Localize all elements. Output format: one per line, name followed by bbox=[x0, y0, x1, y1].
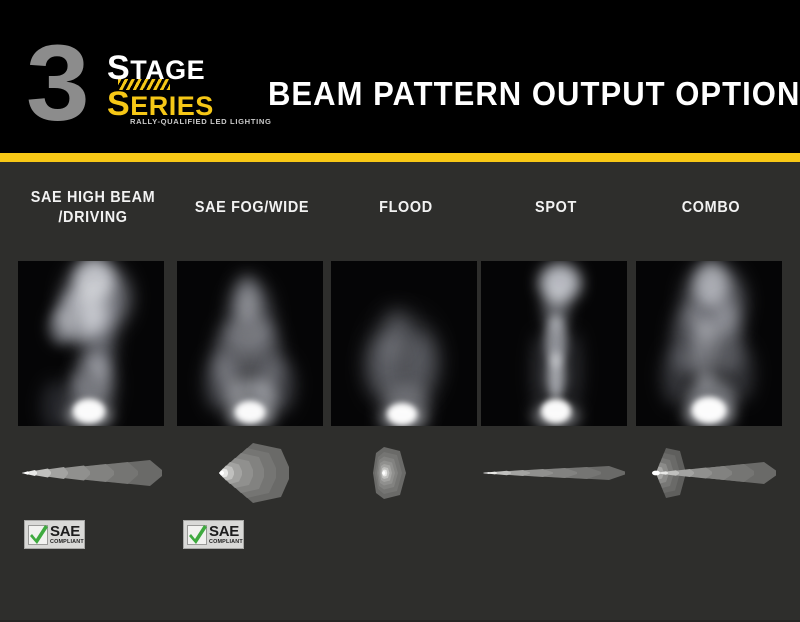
beam-photo-combo bbox=[636, 261, 782, 426]
column-label-line1: COMBO bbox=[682, 199, 741, 216]
column-label-flood: FLOOD bbox=[336, 198, 476, 218]
badge-title: SAE bbox=[50, 524, 84, 539]
beam-diagram-flood bbox=[329, 442, 484, 504]
column-label-sae-high-beam-driving: SAE HIGH BEAM /DRIVING bbox=[23, 188, 163, 228]
logo-word-series: SERIES bbox=[107, 87, 247, 121]
column-label-sae-fog-wide: SAE FOG/WIDE bbox=[182, 198, 322, 218]
column-label-line1: SAE FOG/WIDE bbox=[195, 199, 309, 216]
beam-diagram-combo bbox=[634, 442, 789, 504]
beam-diagram-sae-high-beam-driving bbox=[16, 442, 171, 504]
badge-subtitle: COMPLIANT bbox=[209, 540, 243, 545]
content-area: SAE HIGH BEAM /DRIVING bbox=[0, 162, 800, 620]
logo-tagline: RALLY-QUALIFIED LED LIGHTING bbox=[130, 117, 272, 126]
logo-numeral-3: 3 bbox=[26, 33, 85, 133]
beam-photo-spot bbox=[481, 261, 627, 426]
column-label-line1: FLOOD bbox=[379, 199, 433, 216]
beam-photo-sae-fog-wide bbox=[177, 261, 323, 426]
beam-photo-flood bbox=[331, 261, 477, 426]
sae-compliant-badge-sae-high-beam-driving: SAE COMPLIANT bbox=[24, 520, 85, 549]
header-divider bbox=[0, 153, 800, 162]
logo-word-stage: STAGE bbox=[107, 51, 247, 85]
badge-subtitle: COMPLIANT bbox=[50, 540, 84, 545]
stage-series-logo: 3 STAGE SERIES RALLY-QUALIFIED LED LIGHT… bbox=[26, 33, 241, 138]
badge-title: SAE bbox=[209, 524, 243, 539]
sae-compliant-badge-sae-fog-wide: SAE COMPLIANT bbox=[183, 520, 244, 549]
header-bar: 3 STAGE SERIES RALLY-QUALIFIED LED LIGHT… bbox=[0, 0, 800, 153]
beam-photo-sae-high-beam-driving bbox=[18, 261, 164, 426]
check-icon bbox=[187, 525, 207, 545]
beam-diagram-sae-fog-wide bbox=[175, 442, 330, 504]
check-icon bbox=[28, 525, 48, 545]
column-label-line1: SPOT bbox=[535, 199, 577, 216]
column-label-combo: COMBO bbox=[641, 198, 781, 218]
beam-diagram-spot bbox=[479, 442, 634, 504]
logo-word-stage-text: STAGE bbox=[107, 55, 205, 85]
beam-pattern-infographic: 3 STAGE SERIES RALLY-QUALIFIED LED LIGHT… bbox=[0, 0, 800, 622]
column-label-line1: SAE HIGH BEAM bbox=[31, 189, 156, 206]
column-label-line2: /DRIVING bbox=[58, 209, 127, 226]
logo-wordmark: STAGE SERIES RALLY-QUALIFIED LED LIGHTIN… bbox=[107, 51, 247, 121]
page-title: BEAM PATTERN OUTPUT OPTIONS bbox=[268, 75, 800, 113]
column-label-spot: SPOT bbox=[486, 198, 626, 218]
